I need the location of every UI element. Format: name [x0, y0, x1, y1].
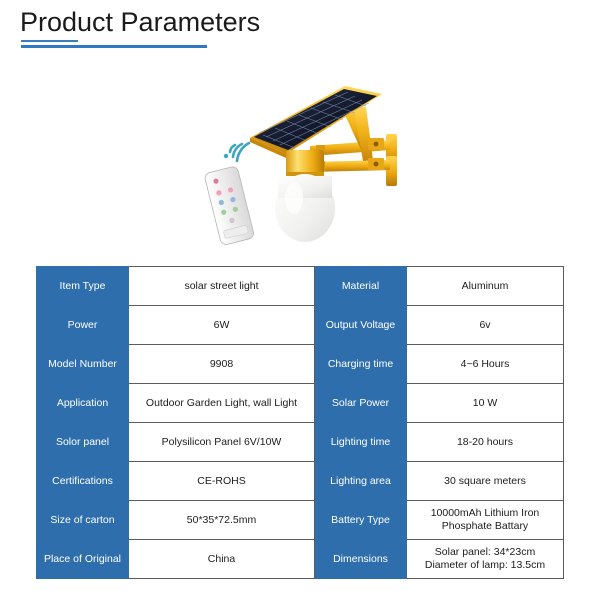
table-row: Certifications CE-ROHS Lighting area 30 …	[37, 462, 564, 501]
table-row: Power 6W Output Voltage 6v	[37, 306, 564, 345]
param-value: 9908	[129, 345, 315, 384]
param-label: Application	[37, 384, 129, 423]
product-illustration	[190, 72, 420, 252]
param-label: Item Type	[37, 267, 129, 306]
table-row: Model Number 9908 Charging time 4~6 Hour…	[37, 345, 564, 384]
param-label: Output Voltage	[315, 306, 407, 345]
param-value: Polysilicon Panel 6V/10W	[129, 423, 315, 462]
param-value: Solar panel: 34*23cm Diameter of lamp: 1…	[407, 540, 564, 579]
param-value: 50*35*72.5mm	[129, 501, 315, 540]
param-label: Model Number	[37, 345, 129, 384]
param-value: 6v	[407, 306, 564, 345]
param-value: solar street light	[129, 267, 315, 306]
param-label: Solar Power	[315, 384, 407, 423]
param-value: 30 square meters	[407, 462, 564, 501]
table-row: Solor panel Polysilicon Panel 6V/10W Lig…	[37, 423, 564, 462]
param-value: CE-ROHS	[129, 462, 315, 501]
page-title: Product Parameters	[20, 6, 260, 38]
title-underline-short	[21, 40, 78, 42]
table-row: Size of carton 50*35*72.5mm Battery Type…	[37, 501, 564, 540]
param-value: Aluminum	[407, 267, 564, 306]
remote-control	[204, 166, 255, 246]
param-label: Dimensions	[315, 540, 407, 579]
title-underline-long	[21, 45, 207, 48]
product-image-stage	[0, 62, 600, 262]
param-label: Lighting area	[315, 462, 407, 501]
param-label: Certifications	[37, 462, 129, 501]
param-label: Lighting time	[315, 423, 407, 462]
param-label: Power	[37, 306, 129, 345]
param-value: Outdoor Garden Light, wall Light	[129, 384, 315, 423]
param-label: Solor panel	[37, 423, 129, 462]
param-label: Charging time	[315, 345, 407, 384]
table-row: Application Outdoor Garden Light, wall L…	[37, 384, 564, 423]
table-row: Item Type solar street light Material Al…	[37, 267, 564, 306]
param-value: 6W	[129, 306, 315, 345]
param-value: China	[129, 540, 315, 579]
param-label: Battery Type	[315, 501, 407, 540]
param-label: Place of Original	[37, 540, 129, 579]
param-label: Material	[315, 267, 407, 306]
param-value: 4~6 Hours	[407, 345, 564, 384]
signal-waves-icon	[224, 143, 249, 161]
product-parameters-table: Item Type solar street light Material Al…	[36, 266, 564, 579]
table-row: Place of Original China Dimensions Solar…	[37, 540, 564, 579]
page-header: Product Parameters	[0, 0, 600, 62]
param-value: 10 W	[407, 384, 564, 423]
param-label: Size of carton	[37, 501, 129, 540]
param-value: 18-20 hours	[407, 423, 564, 462]
param-value: 10000mAh Lithium Iron Phosphate Battary	[407, 501, 564, 540]
